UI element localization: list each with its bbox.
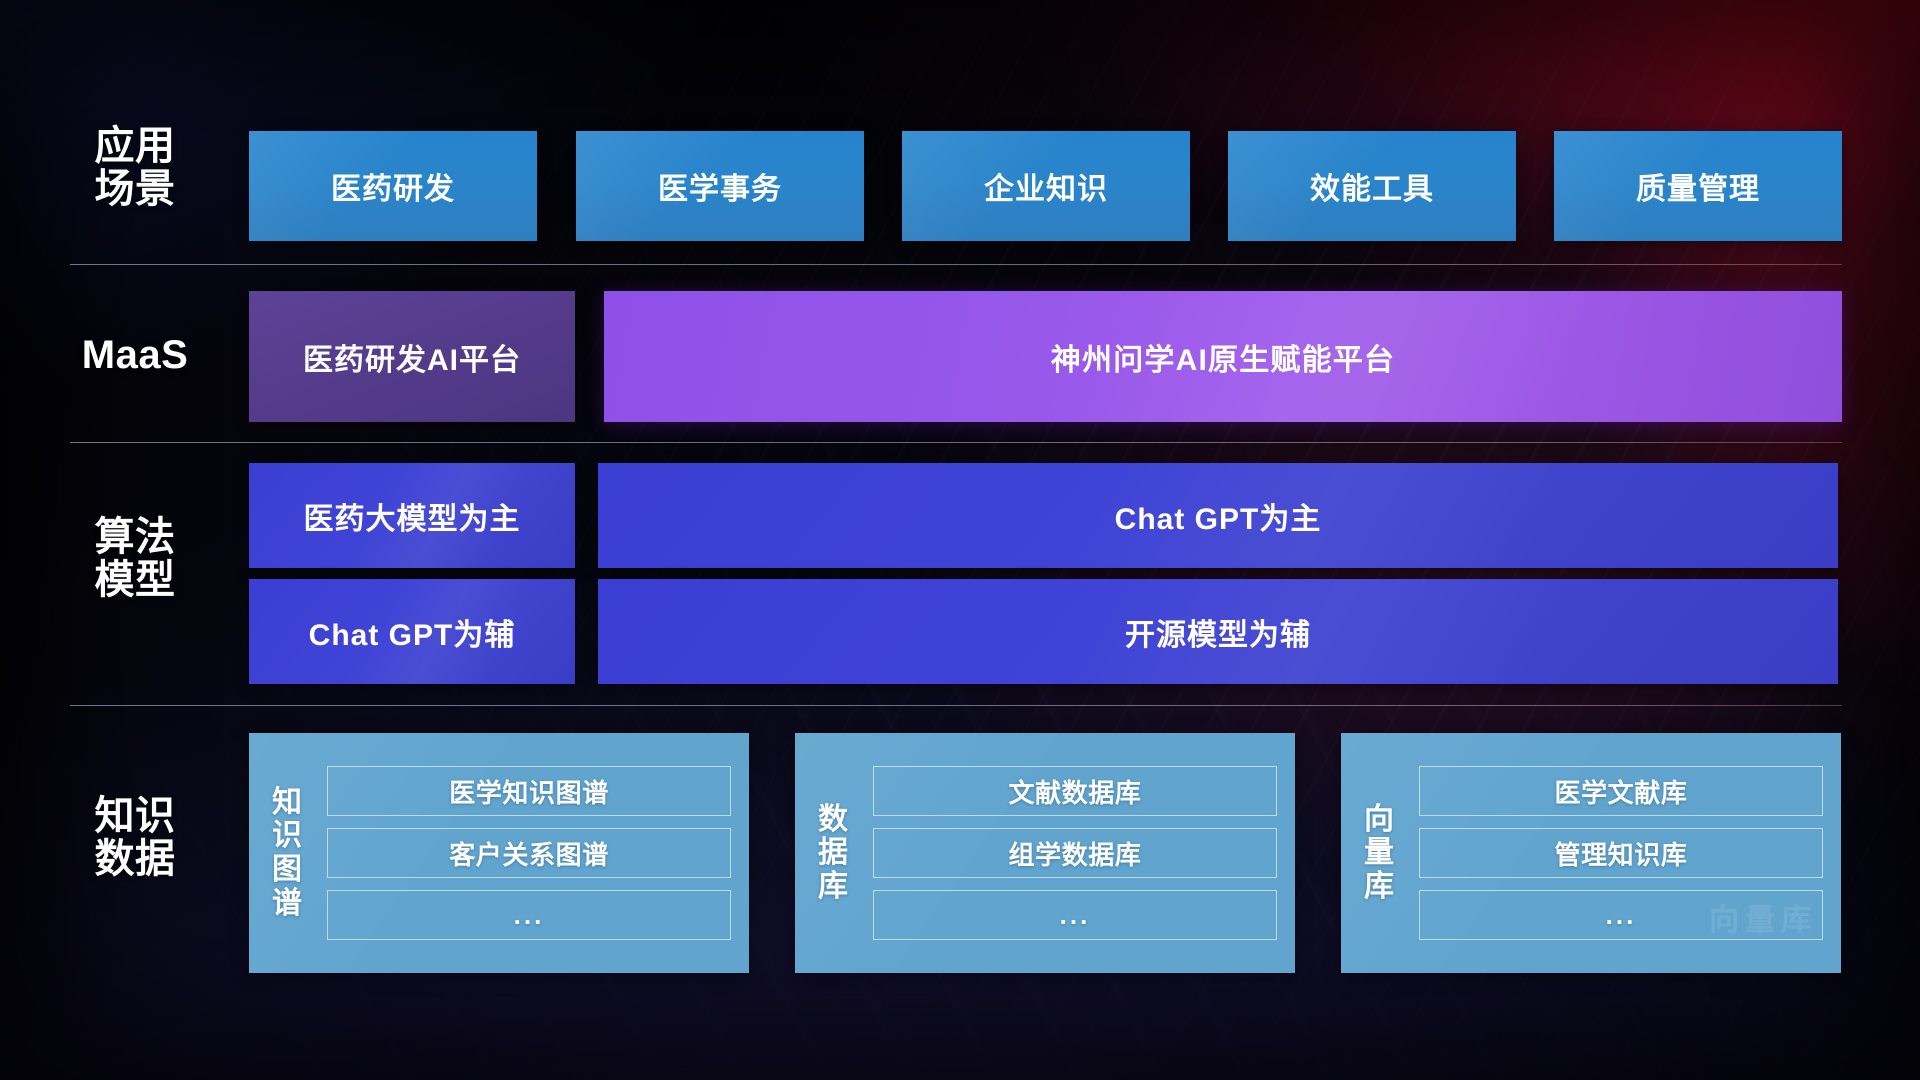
row-label-line: 算法	[70, 516, 200, 559]
knowledge-panel-items: 医学文献库 管理知识库 ...	[1417, 733, 1841, 973]
knowledge-item-label: 管理知识库	[1554, 835, 1687, 872]
vertical-label-char: 图	[272, 853, 302, 887]
knowledge-item-more[interactable]: ...	[873, 890, 1277, 940]
vertical-label-char: 数	[818, 803, 848, 837]
algo-box-chatgpt-secondary[interactable]: Chat GPT为辅	[249, 579, 575, 684]
divider-line-1	[70, 264, 1842, 265]
app-box-label: 效能工具	[1310, 164, 1434, 208]
app-box-label: 医学事务	[658, 164, 782, 208]
row-label-algorithm-models: 算法 模型	[70, 516, 200, 602]
vertical-label-char: 知	[272, 786, 302, 820]
knowledge-item-medical-kg[interactable]: 医学知识图谱	[327, 766, 731, 816]
app-box-label: 医药研发	[331, 164, 455, 208]
app-box-enterprise-knowledge[interactable]: 企业知识	[902, 131, 1190, 241]
knowledge-item-label: 医学文献库	[1554, 773, 1687, 810]
algo-box-medicine-llm-primary[interactable]: 医药大模型为主	[249, 463, 575, 568]
algo-box-chatgpt-primary[interactable]: Chat GPT为主	[598, 463, 1838, 568]
row-label-line: 场景	[70, 168, 200, 211]
maas-box-label: 神州问学AI原生赋能平台	[1051, 335, 1395, 379]
vertical-label-char: 量	[1364, 836, 1394, 870]
app-box-label: 质量管理	[1636, 164, 1760, 208]
knowledge-item-management-knowledge-store[interactable]: 管理知识库	[1419, 828, 1823, 878]
row-label-line: 数据	[70, 838, 200, 881]
knowledge-item-label: 组学数据库	[1008, 835, 1141, 872]
app-box-medical-affairs[interactable]: 医学事务	[576, 131, 864, 241]
algo-box-label: 开源模型为辅	[1125, 610, 1311, 654]
row-label-line: 知识	[70, 795, 200, 838]
app-box-label: 企业知识	[984, 164, 1108, 208]
algo-box-label: Chat GPT为主	[1115, 494, 1322, 538]
row-label-line: 模型	[70, 559, 200, 602]
algo-box-label: Chat GPT为辅	[309, 610, 516, 654]
vertical-label-char: 识	[272, 819, 302, 853]
maas-box-medicine-rnd-ai-platform[interactable]: 医药研发AI平台	[249, 291, 575, 422]
vertical-label-char: 谱	[272, 887, 302, 921]
knowledge-panel-vertical-label: 向 量 库	[1341, 733, 1417, 973]
vertical-label-char: 向	[1364, 803, 1394, 837]
knowledge-panel-database[interactable]: 数 据 库 文献数据库 组学数据库 ...	[795, 733, 1295, 973]
knowledge-panel-vertical-label: 数 据 库	[795, 733, 871, 973]
row-label-maas: MaaS	[70, 334, 200, 377]
knowledge-item-more[interactable]: ...	[327, 890, 731, 940]
knowledge-item-label: ...	[514, 900, 545, 931]
knowledge-panel-items: 文献数据库 组学数据库 ...	[871, 733, 1295, 973]
knowledge-panel-items: 医学知识图谱 客户关系图谱 ...	[325, 733, 749, 973]
divider-line-2	[70, 442, 1842, 443]
maas-box-label: 医药研发AI平台	[303, 335, 521, 379]
knowledge-item-label: 文献数据库	[1008, 773, 1141, 810]
knowledge-item-customer-relation-kg[interactable]: 客户关系图谱	[327, 828, 731, 878]
row-label-line: MaaS	[70, 334, 200, 377]
vertical-label-char: 据	[818, 836, 848, 870]
knowledge-item-label: ...	[1606, 900, 1637, 931]
algo-box-label: 医药大模型为主	[304, 494, 521, 538]
knowledge-item-medical-literature-store[interactable]: 医学文献库	[1419, 766, 1823, 816]
knowledge-item-more[interactable]: ...	[1419, 890, 1823, 940]
knowledge-item-label: ...	[1060, 900, 1091, 931]
app-box-efficiency-tools[interactable]: 效能工具	[1228, 131, 1516, 241]
vertical-label-char: 库	[818, 870, 848, 904]
row-label-application-scenarios: 应用 场景	[70, 125, 200, 211]
divider-line-3	[70, 705, 1842, 706]
app-box-quality-management[interactable]: 质量管理	[1554, 131, 1842, 241]
vertical-label-char: 库	[1364, 870, 1394, 904]
knowledge-panel-vector-store[interactable]: 向量库 向 量 库 医学文献库 管理知识库 ...	[1341, 733, 1841, 973]
knowledge-panel-vertical-label: 知 识 图 谱	[249, 733, 325, 973]
maas-box-shenzhou-wenxue-platform[interactable]: 神州问学AI原生赋能平台	[604, 291, 1842, 422]
knowledge-item-label: 医学知识图谱	[449, 773, 609, 810]
row-label-knowledge-data: 知识 数据	[70, 795, 200, 881]
row-label-line: 应用	[70, 125, 200, 168]
diagram-canvas: 应用 场景 医药研发 医学事务 企业知识 效能工具 质量管理 MaaS 医药研发…	[0, 0, 1920, 1080]
knowledge-item-omics-db[interactable]: 组学数据库	[873, 828, 1277, 878]
knowledge-item-literature-db[interactable]: 文献数据库	[873, 766, 1277, 816]
algo-box-open-source-secondary[interactable]: 开源模型为辅	[598, 579, 1838, 684]
knowledge-item-label: 客户关系图谱	[449, 835, 609, 872]
knowledge-panel-knowledge-graph[interactable]: 知 识 图 谱 医学知识图谱 客户关系图谱 ...	[249, 733, 749, 973]
app-box-medicine-rnd[interactable]: 医药研发	[249, 131, 537, 241]
